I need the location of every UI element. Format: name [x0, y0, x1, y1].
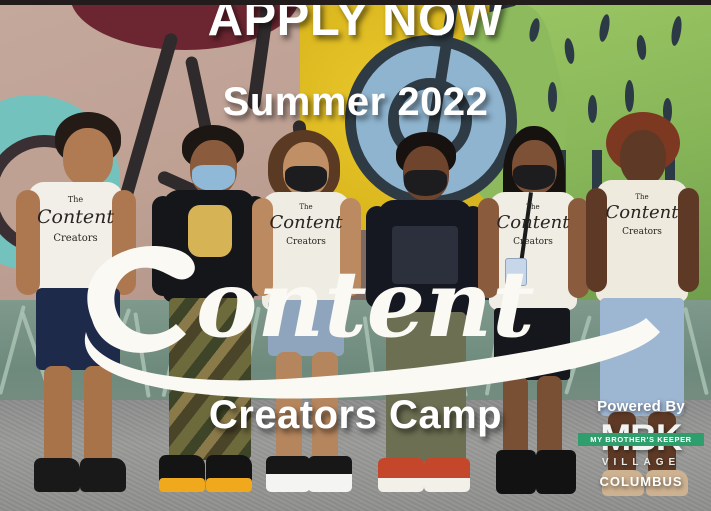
mbk-columbus-label: COLUMBUS [576, 474, 706, 489]
mbk-logo: MBK MY BROTHER'S KEEPER [576, 420, 706, 456]
mbk-banner-text: MY BROTHER'S KEEPER [590, 435, 691, 444]
headline-apply-now: APPLY NOW [0, 0, 711, 47]
promotional-flyer: The Content Creators The Content Cr [0, 0, 711, 511]
mbk-village-label: VILLAGE [576, 457, 706, 468]
top-border-band [0, 0, 711, 5]
powered-by-label: Powered By [576, 398, 706, 415]
sponsor-logo-block: Powered By MBK MY BROTHER'S KEEPER VILLA… [576, 398, 706, 489]
headline-season: Summer 2022 [0, 80, 711, 125]
mbk-banner: MY BROTHER'S KEEPER [578, 433, 704, 446]
